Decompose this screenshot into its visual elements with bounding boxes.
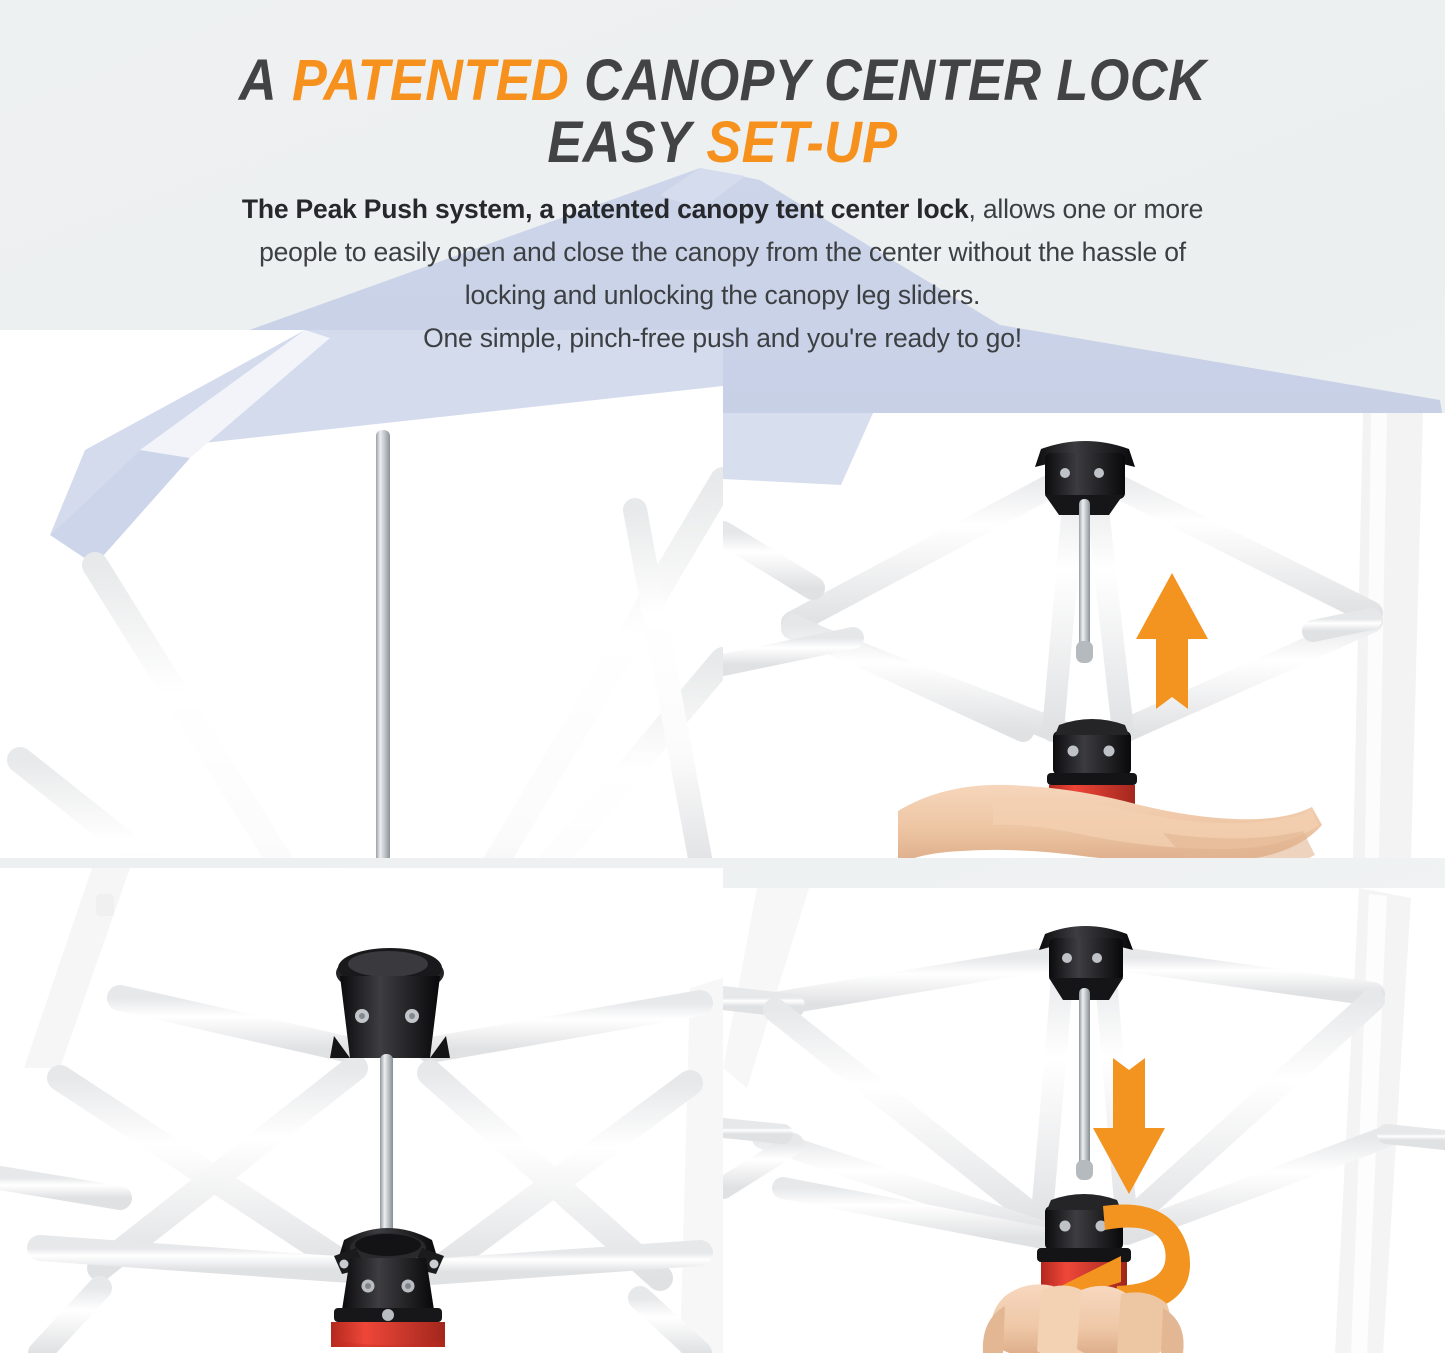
title-word-easy: EASY <box>547 110 691 175</box>
title-word-patented: PATENTED <box>292 48 569 113</box>
title-block: A PATENTED CANOPY CENTER LOCK EASY SET-U… <box>0 0 1445 174</box>
description-line-3: locking and unlocking the canopy leg sli… <box>78 274 1367 317</box>
description-line-2: people to easily open and close the cano… <box>78 231 1367 274</box>
title-word-canopy-center-lock: CANOPY CENTER LOCK <box>584 48 1206 113</box>
title-word-setup: SET-UP <box>706 110 897 175</box>
panel-bottom-left <box>0 868 723 1353</box>
infographic-page: A PATENTED CANOPY CENTER LOCK EASY SET-U… <box>0 0 1445 1353</box>
title-line-1: A PATENTED CANOPY CENTER LOCK <box>72 50 1373 112</box>
title-space-1 <box>277 48 292 113</box>
description-line-1-rest: , allows one or more <box>969 194 1204 224</box>
description-block: The Peak Push system, a patented canopy … <box>0 188 1445 360</box>
description-line-4: One simple, pinch-free push and you're r… <box>78 317 1367 360</box>
title-line-2: EASY SET-UP <box>72 112 1373 174</box>
panel-top-left <box>0 330 723 858</box>
panel-top-right <box>723 413 1445 858</box>
description-bold-lead: The Peak Push system, a patented canopy … <box>242 194 969 224</box>
title-word-a: A <box>239 48 277 113</box>
panel-bottom-right <box>723 888 1445 1353</box>
description-line-1: The Peak Push system, a patented canopy … <box>78 188 1367 231</box>
header: A PATENTED CANOPY CENTER LOCK EASY SET-U… <box>0 0 1445 400</box>
title-space-2 <box>569 48 584 113</box>
title-space-3 <box>691 110 706 175</box>
